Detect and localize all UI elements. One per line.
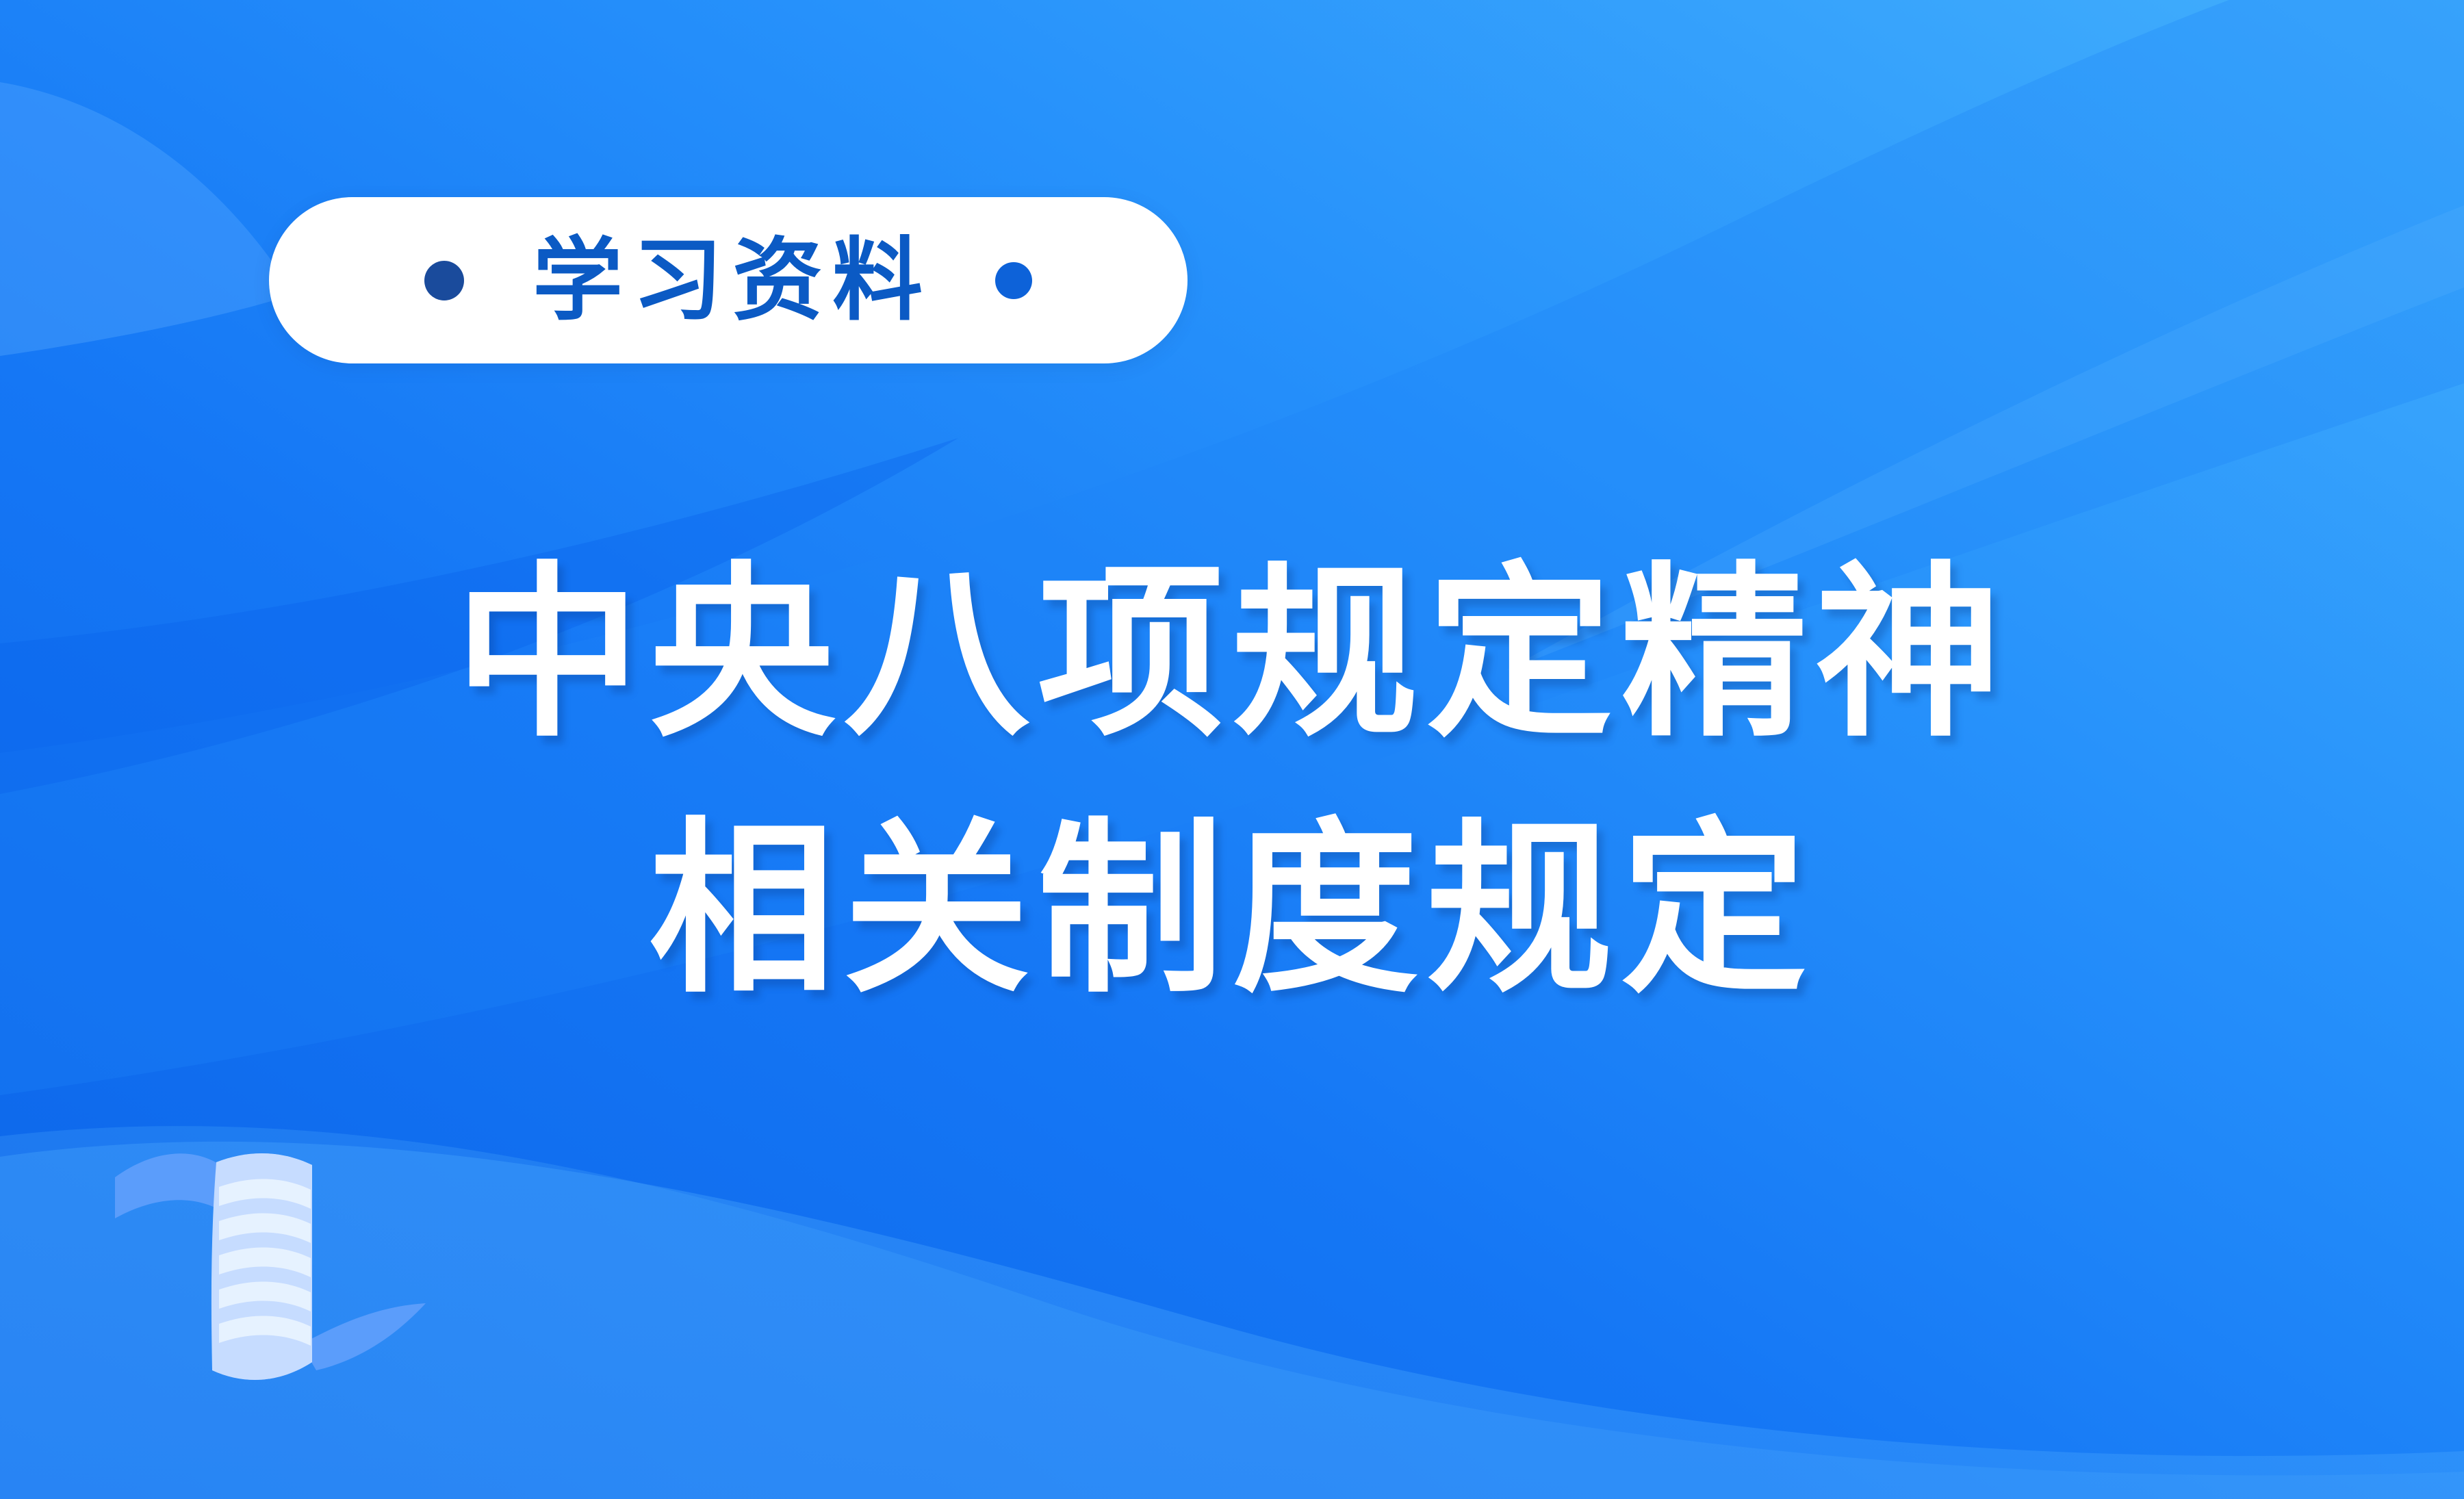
scroll-document-svg: [75, 1144, 459, 1432]
bullet-dot-icon-left: [424, 261, 464, 300]
study-material-badge: 学习资料: [269, 197, 1188, 363]
badge-label: 学习资料: [527, 235, 932, 326]
poster-title-block: 中央八项规定精神 相关制度规定: [0, 541, 2464, 1024]
title-line-2: 相关制度规定: [0, 797, 2464, 1024]
scroll-back-curl-right: [301, 1303, 426, 1370]
bullet-dot-icon-right: [995, 262, 1032, 299]
scroll-document-icon: [75, 1144, 459, 1432]
poster-canvas: 学习资料 中央八项规定精神 相关制度规定: [0, 0, 2464, 1499]
scroll-back-curl-left: [115, 1153, 220, 1218]
title-line-1: 中央八项规定精神: [0, 541, 2464, 768]
